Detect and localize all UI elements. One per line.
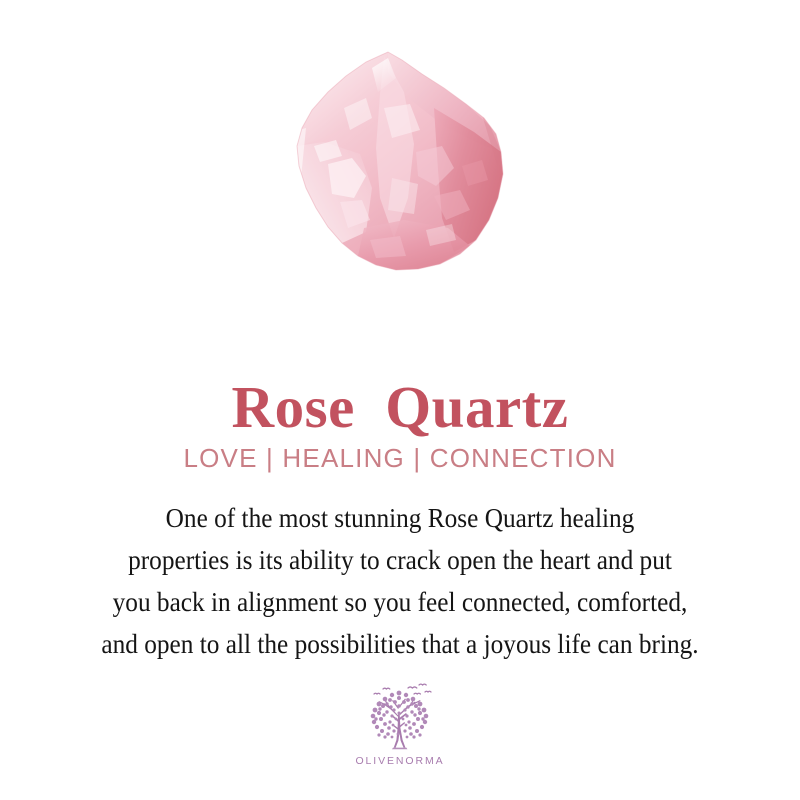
brand-logo: OLIVENORMA — [0, 682, 800, 767]
keywords-subtitle: LOVE | HEALING | CONNECTION — [0, 441, 800, 475]
page-title: Rose Quartz — [0, 374, 800, 440]
description-paragraph: One of the most stunning Rose Quartz hea… — [32, 497, 768, 665]
description-line: properties is its ability to crack open … — [32, 539, 768, 581]
rose-quartz-crystal-icon — [284, 48, 516, 282]
tree-of-life-icon — [363, 682, 437, 752]
description-line: and open to all the possibilities that a… — [32, 623, 768, 665]
brand-wordmark: OLIVENORMA — [355, 755, 444, 767]
hero-image-container — [0, 48, 800, 293]
description-line: One of the most stunning Rose Quartz hea… — [32, 497, 768, 539]
description-line: you back in alignment so you feel connec… — [32, 581, 768, 623]
rose-quartz-poster: Rose Quartz LOVE | HEALING | CONNECTION … — [0, 0, 800, 800]
